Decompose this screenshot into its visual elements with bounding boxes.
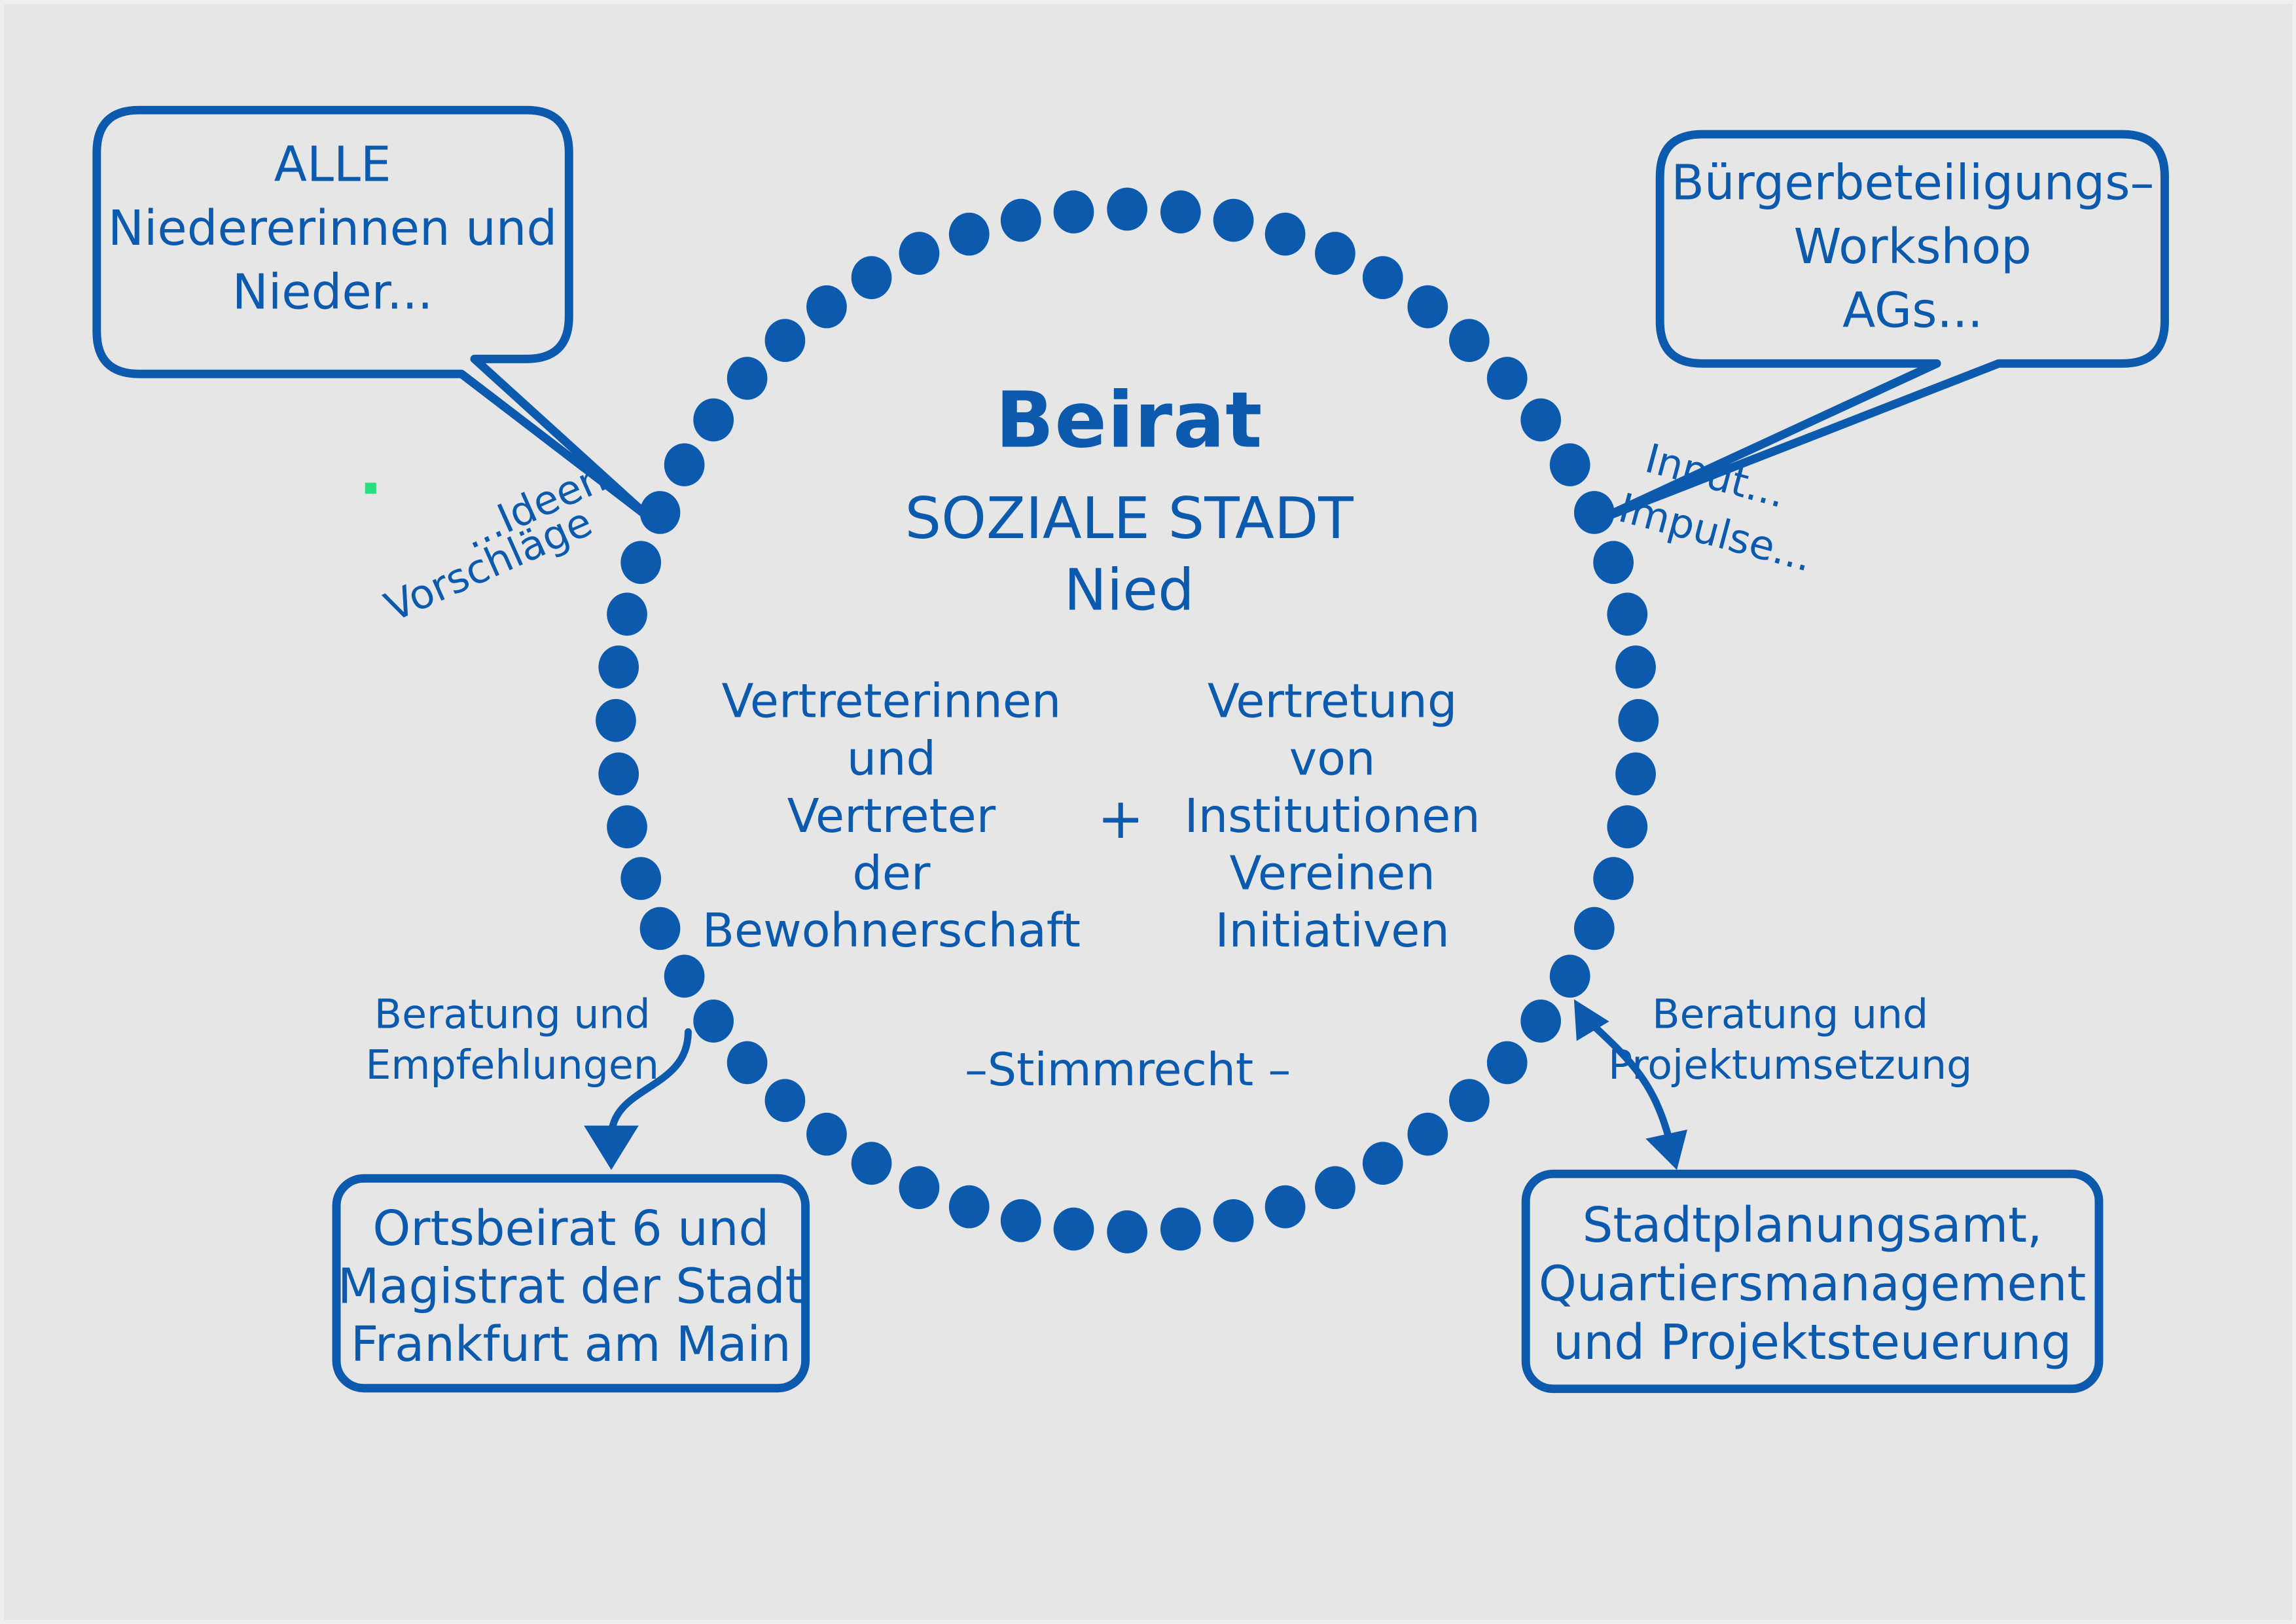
circle-dot (727, 357, 768, 400)
circle-dot (598, 645, 639, 689)
lower-left-label-line-1: Beratung und (374, 990, 651, 1038)
circle-dot (1607, 592, 1647, 636)
right-column-line-2: von (1289, 731, 1376, 785)
box-bottom-right-line-2: Quartiersmanagement (1539, 1256, 2086, 1312)
box-bottom-left-line-1: Ortsbeirat 6 und (372, 1201, 769, 1257)
circle-dot (1363, 256, 1403, 299)
connector-label-upper-right: Input... Impulse... (1614, 435, 1818, 581)
circle-dot (1315, 1166, 1355, 1210)
circle-dot (1265, 213, 1306, 256)
circle-dot (1593, 541, 1634, 584)
circle-dot (852, 1142, 892, 1185)
circle-dot (664, 443, 705, 486)
circle-dot (1265, 1185, 1306, 1229)
plus-operator: + (1097, 787, 1144, 852)
right-column-line-1: Vertretung (1208, 674, 1457, 729)
box-bottom-right-line-1: Stadtplanungsamt, (1583, 1198, 2043, 1254)
left-column-line-1: Vertreterinnen (721, 674, 1061, 729)
lower-right-label-line-2: Projektumsetzung (1608, 1041, 1972, 1089)
circle-dot (640, 907, 681, 950)
circle-dot (949, 213, 990, 256)
connector-label-upper-left: ...Ideen Vorschläge (365, 454, 613, 631)
bubble-top-left-line-2: Niedererinnen und (108, 201, 557, 257)
lower-right-label-line-1: Beratung und (1652, 990, 1928, 1038)
circle-dot (1550, 443, 1590, 486)
circle-dot (727, 1041, 768, 1085)
circle-dot (765, 319, 806, 362)
circle-dot (899, 1166, 940, 1210)
circle-dot (852, 256, 892, 299)
circle-dot (1593, 857, 1634, 900)
box-bottom-right[interactable]: Stadtplanungsamt, Quartiersmanagement un… (1526, 1174, 2099, 1388)
left-column-line-2: und (847, 731, 936, 785)
right-column-line-3: Institutionen (1185, 788, 1480, 843)
circle-dot (1487, 1041, 1528, 1085)
box-bottom-left[interactable]: Ortsbeirat 6 und Magistrat der Stadt Fra… (336, 1178, 806, 1388)
circle-dot (949, 1185, 990, 1229)
right-column-line-4: Vereinen (1229, 845, 1435, 900)
circle-dot (1607, 805, 1647, 848)
connector-lower-left: Beratung und Empfehlungen (365, 990, 688, 1170)
left-column-line-5: Bewohnerschaft (702, 903, 1081, 958)
circle-dot (1315, 232, 1355, 275)
box-bottom-right-line-3: und Projektsteuerung (1553, 1315, 2072, 1371)
left-column-line-4: der (852, 845, 931, 900)
lower-left-arrow-head (584, 1126, 639, 1170)
circle-subtitle: SOZIALE STADT (905, 485, 1354, 552)
circle-dot (1487, 357, 1528, 400)
circle-dot (607, 805, 647, 848)
circle-dot (1520, 399, 1561, 442)
lower-left-label-line-2: Empfehlungen (365, 1041, 659, 1089)
circle-dot (607, 592, 647, 636)
connector-lower-right: Beratung und Projektumsetzung (1574, 990, 1972, 1170)
circle-dot (1615, 645, 1656, 689)
circle-dot (1520, 1000, 1561, 1043)
circle-dot (806, 285, 847, 329)
circle-dot (1160, 1208, 1201, 1251)
circle-dot (806, 1113, 847, 1156)
stimmrecht-footer: –Stimmrecht – (965, 1043, 1291, 1096)
bubble-top-right-line-3: AGs... (1842, 283, 1983, 339)
circle-title: Beirat (996, 376, 1263, 465)
circle-dot (899, 232, 940, 275)
box-bottom-left-line-2: Magistrat der Stadt (338, 1259, 804, 1314)
circle-dot (1001, 199, 1041, 242)
circle-dot (596, 699, 636, 742)
circle-dot (1160, 190, 1201, 234)
right-column-line-5: Initiativen (1215, 903, 1450, 958)
circle-dot (1363, 1142, 1403, 1185)
circle-dot (1054, 1208, 1094, 1251)
circle-dot (620, 857, 661, 900)
bubble-top-right-line-2: Workshop (1794, 219, 2032, 275)
circle-content: Beirat SOZIALE STADT Nied Vertreterinnen… (702, 376, 1480, 1096)
bubble-top-right-line-1: Bürgerbeteiligungs– (1671, 156, 2154, 211)
circle-dot (1001, 1199, 1041, 1242)
circle-dot (598, 752, 639, 795)
circle-dot (664, 954, 705, 998)
circle-dot (1213, 1199, 1254, 1242)
circle-dot (1407, 285, 1448, 329)
circle-dot (1449, 1079, 1490, 1122)
green-accent-dot (365, 482, 376, 494)
circle-dot (1550, 954, 1590, 998)
circle-dot (1449, 319, 1490, 362)
circle-dot (693, 399, 734, 442)
circle-dot (1574, 907, 1615, 950)
left-column-line-3: Vertreter (787, 788, 996, 843)
circle-dot (1407, 1113, 1448, 1156)
bubble-top-left-line-3: Nieder... (232, 265, 433, 321)
circle-dot (1615, 752, 1656, 795)
box-bottom-left-line-3: Frankfurt am Main (351, 1317, 791, 1373)
circle-dot (1054, 190, 1094, 234)
circle-dot (693, 1000, 734, 1043)
speech-bubble-top-left[interactable]: ALLE Niedererinnen und Nieder... (97, 110, 651, 518)
beirat-soziale-stadt-diagram: ALLE Niedererinnen und Nieder... Bürgerb… (4, 4, 2292, 1620)
lower-right-arrow-head-down (1645, 1130, 1687, 1170)
circle-dot (1213, 199, 1254, 242)
diagram-canvas: ALLE Niedererinnen und Nieder... Bürgerb… (0, 0, 2296, 1624)
circle-dot (1107, 188, 1147, 231)
circle-subtitle-2: Nied (1064, 557, 1194, 624)
circle-dot (1619, 699, 1659, 742)
circle-dot (1107, 1210, 1147, 1254)
bubble-top-left-line-1: ALLE (274, 137, 391, 193)
circle-dot (765, 1079, 806, 1122)
circle-dot (620, 541, 661, 584)
